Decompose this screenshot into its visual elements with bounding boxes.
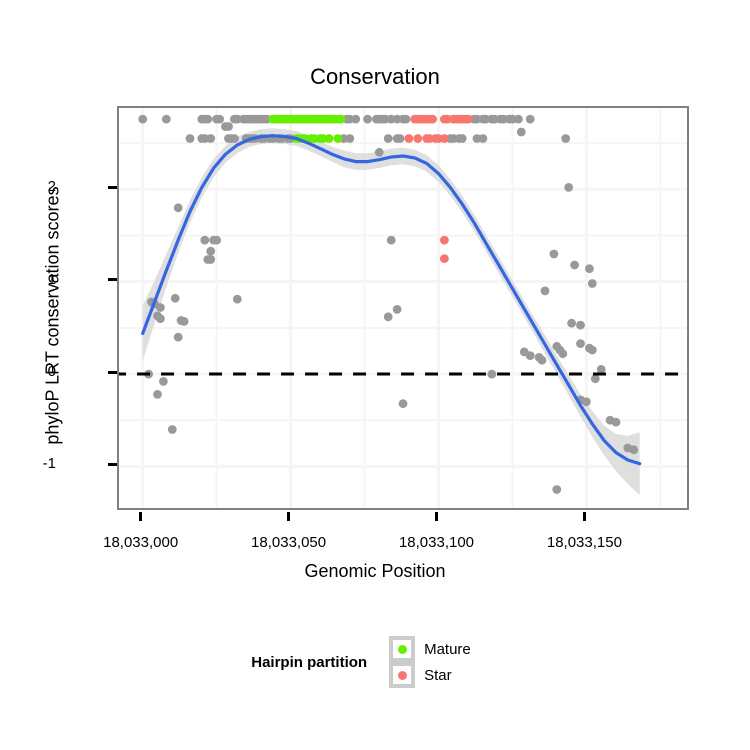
x-tick-label: 18,033,050 <box>209 534 369 551</box>
data-point <box>351 115 360 124</box>
data-point <box>224 122 233 131</box>
data-point <box>399 399 408 408</box>
data-point <box>440 254 449 263</box>
x-tick-label: 18,033,000 <box>61 534 221 551</box>
data-point <box>558 349 567 358</box>
data-point <box>203 115 212 124</box>
legend-dot-icon <box>398 671 407 680</box>
data-point <box>405 134 414 143</box>
legend-item-mature[interactable]: Mature <box>389 636 485 662</box>
data-point <box>567 319 576 328</box>
data-point <box>156 303 165 312</box>
data-point <box>440 134 449 143</box>
data-point <box>396 134 405 143</box>
data-point <box>345 134 354 143</box>
data-point <box>230 134 239 143</box>
data-point <box>174 203 183 212</box>
legend-dot-icon <box>398 645 407 654</box>
x-tick-mark <box>583 512 586 521</box>
data-point <box>570 261 579 270</box>
legend-key-swatch <box>389 662 415 688</box>
legend: Hairpin partition MatureStar <box>0 636 750 688</box>
data-point <box>402 115 411 124</box>
data-point <box>325 134 334 143</box>
data-point <box>180 317 189 326</box>
x-tick-mark <box>435 512 438 521</box>
data-point <box>363 115 372 124</box>
data-point <box>375 148 384 157</box>
x-axis-title: Genomic Position <box>0 561 750 582</box>
y-tick-mark <box>108 371 117 374</box>
data-point <box>561 134 570 143</box>
data-point <box>233 295 242 304</box>
data-point <box>458 134 467 143</box>
data-point <box>387 236 396 245</box>
data-point <box>585 264 594 273</box>
data-point <box>591 374 600 383</box>
data-point <box>168 425 177 434</box>
y-tick-mark <box>108 186 117 189</box>
x-tick-label: 18,033,150 <box>504 534 664 551</box>
y-tick-label: -1 <box>16 455 56 472</box>
legend-label: Star <box>424 667 452 684</box>
y-tick-label: 2 <box>16 178 56 195</box>
data-point <box>200 236 209 245</box>
page-title: Conservation <box>0 64 750 90</box>
data-point <box>440 236 449 245</box>
data-point <box>564 183 573 192</box>
data-point <box>576 339 585 348</box>
data-point <box>588 346 597 355</box>
y-tick-label: 0 <box>16 363 56 380</box>
data-point <box>334 134 343 143</box>
y-tick-label: 1 <box>16 271 56 288</box>
legend-label: Mature <box>424 641 471 658</box>
x-tick-label: 18,033,100 <box>357 534 517 551</box>
data-point <box>186 134 195 143</box>
data-point <box>514 115 523 124</box>
data-point <box>550 250 559 259</box>
data-point <box>629 445 638 454</box>
data-point <box>538 356 547 365</box>
data-point <box>171 294 180 303</box>
data-point <box>156 314 165 323</box>
plot-canvas <box>119 108 687 508</box>
y-tick-mark <box>108 278 117 281</box>
data-point <box>337 115 346 124</box>
data-point <box>159 377 168 386</box>
data-point <box>206 255 215 264</box>
legend-title: Hairpin partition <box>251 654 367 671</box>
data-point <box>153 390 162 399</box>
legend-items: MatureStar <box>389 636 499 688</box>
data-point <box>541 287 550 296</box>
data-point <box>212 236 221 245</box>
data-point <box>162 115 171 124</box>
data-point <box>215 115 224 124</box>
data-point <box>582 397 591 406</box>
data-point <box>487 370 496 379</box>
data-point <box>588 279 597 288</box>
data-point <box>428 115 437 124</box>
legend-item-star[interactable]: Star <box>389 662 485 688</box>
data-point <box>479 134 488 143</box>
data-point <box>206 247 215 256</box>
data-point <box>138 115 147 124</box>
data-point <box>552 485 561 494</box>
data-point <box>576 321 585 330</box>
data-point <box>464 115 473 124</box>
data-point <box>597 365 606 374</box>
x-tick-mark <box>287 512 290 521</box>
y-tick-mark <box>108 463 117 466</box>
data-point <box>384 134 393 143</box>
conservation-chart-figure: Conservation phyloP LRT conservation sco… <box>0 0 750 750</box>
x-tick-mark <box>139 512 142 521</box>
data-point <box>526 115 535 124</box>
data-point <box>384 312 393 321</box>
data-point <box>517 128 526 137</box>
data-point <box>174 333 183 342</box>
data-point <box>413 134 422 143</box>
data-point <box>206 134 215 143</box>
legend-key-swatch <box>389 636 415 662</box>
data-point <box>612 418 621 427</box>
plot-panel <box>117 106 689 510</box>
data-point <box>393 305 402 314</box>
data-point <box>526 351 535 360</box>
